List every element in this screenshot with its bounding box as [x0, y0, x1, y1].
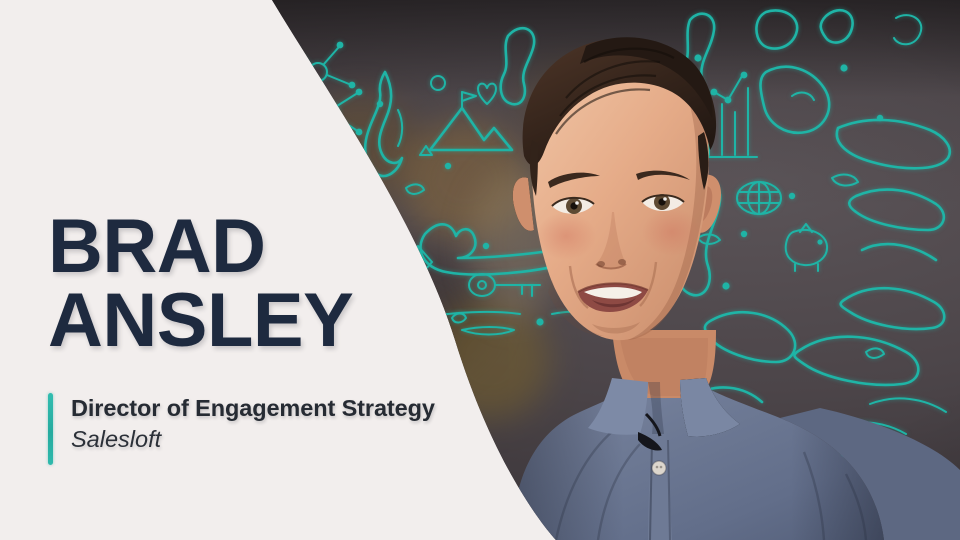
speaker-name-block: BRAD ANSLEY	[48, 210, 518, 357]
speaker-first-name: BRAD	[48, 210, 518, 284]
speaker-company: Salesloft	[71, 425, 435, 454]
speaker-last-name: ANSLEY	[48, 284, 518, 358]
role-text-group: Director of Engagement Strategy Saleslof…	[71, 393, 435, 465]
speaker-role-title: Director of Engagement Strategy	[71, 395, 435, 423]
speaker-title-card: BRAD ANSLEY Director of Engagement Strat…	[0, 0, 960, 540]
speaker-role-block: Director of Engagement Strategy Saleslof…	[48, 393, 435, 465]
shirt-button	[652, 461, 666, 475]
speaker-name: BRAD ANSLEY	[48, 210, 518, 357]
accent-bar	[48, 393, 53, 465]
